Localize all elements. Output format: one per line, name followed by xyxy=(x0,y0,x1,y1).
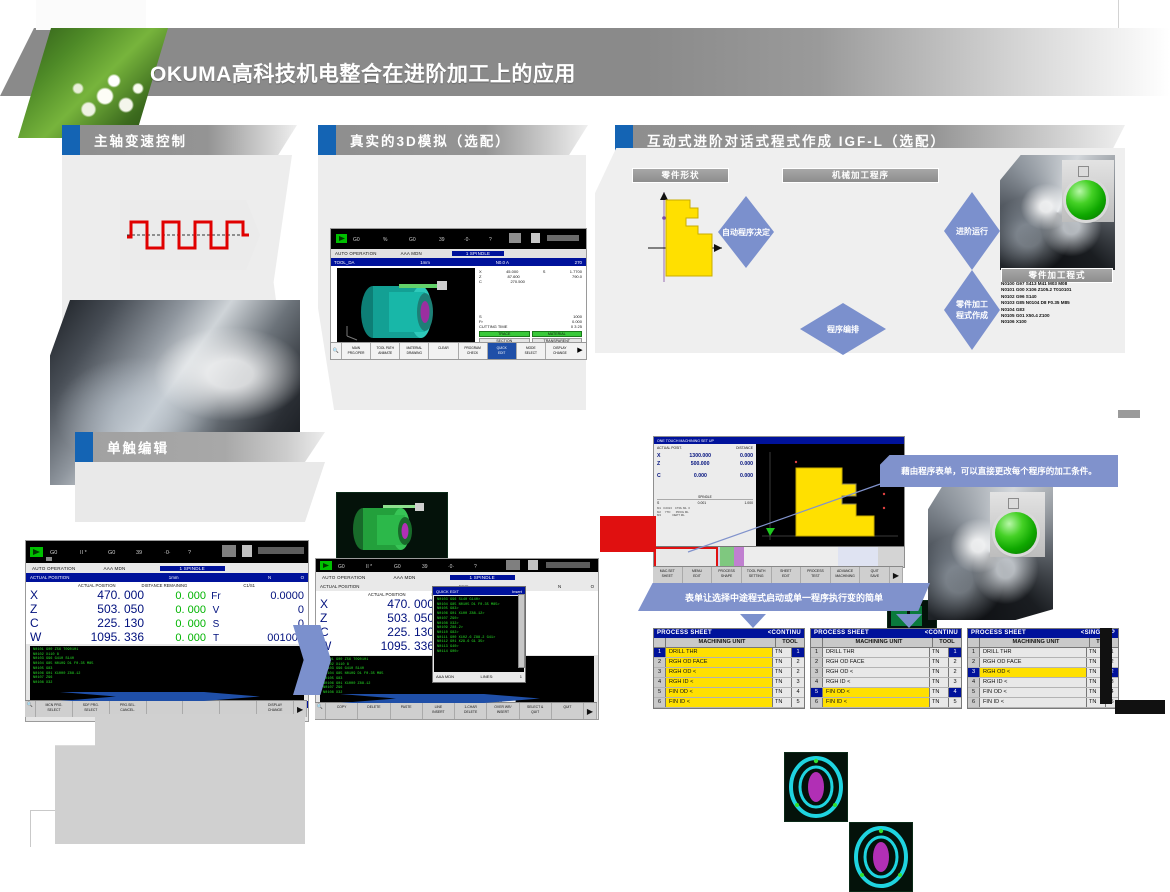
edge-strip-right-2 xyxy=(1115,700,1165,714)
quick-edit-text[interactable]: N0103 G96 S140 G140> N0104 G85 N0105 D1 … xyxy=(434,596,524,672)
section-label-spindle: 主轴变速控制 xyxy=(80,130,187,150)
onetouch-col-remain: DISTANCE xyxy=(736,446,753,450)
section-header-onetouch: 单触编辑 xyxy=(75,432,325,462)
led-indicator-igf xyxy=(1078,166,1089,177)
ps2-r3-unit: RGH OD < xyxy=(823,668,930,677)
cnc1-axis-w-lbl: T xyxy=(206,633,226,644)
gcode-line: N0106 X100 xyxy=(1001,319,1113,325)
process-sheet-1-title: PROCESS SHEET <CONTINU xyxy=(654,629,804,638)
sim3d-softkey[interactable]: MAINPRG.OPER xyxy=(341,343,370,359)
onetouch-col-actual: ACTUAL POSIT. xyxy=(657,446,682,450)
svg-text:%: % xyxy=(383,237,388,243)
ps1-r3-no: 3 xyxy=(654,668,666,677)
arrow-down-ps2 xyxy=(740,614,766,628)
ps1-col-no xyxy=(654,638,666,647)
ps1-col-unit: MACHINING UNIT xyxy=(666,638,776,647)
ps3-col-no xyxy=(968,638,980,647)
ps2-r2-tool: TN xyxy=(930,658,949,667)
cnc1-program-window[interactable]: N0101 G00 Z56 T090101 N0102 X110 8 N0103… xyxy=(30,646,304,700)
cnc1-softkey-mcn-prg[interactable]: MCN PRG.SELECT xyxy=(36,701,73,717)
frame-mark-top xyxy=(1118,0,1119,28)
ps3-r1-unit: DRILL THR xyxy=(980,648,1087,657)
svg-text:G0: G0 xyxy=(50,550,57,556)
svg-text:G0: G0 xyxy=(108,550,115,556)
ps1-r6-no: 6 xyxy=(654,698,666,707)
cnc2-softkey-paste[interactable]: PASTE xyxy=(391,703,423,719)
table-row[interactable]: 5 FIN OD < TN 4 xyxy=(811,688,961,698)
cnc-mode-auto: AUTO OPERATION xyxy=(335,251,377,256)
process-sheet-2-title-label: PROCESS SHEET xyxy=(814,629,869,638)
cnc1-axis-table: X 470. 000 0. 000 Fr 0.0000 Z 503. 050 0… xyxy=(26,588,308,644)
cnc2-softkey-magnifier[interactable]: 🔍 xyxy=(315,703,326,719)
part-shape-drawing xyxy=(640,188,730,286)
cnc1-col-remain: DISTANCE REMAINING xyxy=(142,583,188,588)
section-header-sim3d: 真实的3D模拟（选配） xyxy=(318,125,588,155)
cnc2-softkey-copy[interactable]: COPY xyxy=(326,703,358,719)
cnc2-axis-z-actual: 503. 050 xyxy=(338,611,434,625)
quick-edit-footer: AAA MDN LINES: 1 xyxy=(433,673,525,680)
svg-text:39: 39 xyxy=(439,237,445,243)
ps1-r1-no: 1 xyxy=(654,648,666,657)
section-header-spindle: 主轴变速控制 xyxy=(62,125,297,155)
ps2-r5-no: 5 xyxy=(811,688,823,697)
cnc1-col-cs: C1/S1 xyxy=(243,583,255,588)
machining-thumb-5 xyxy=(849,822,913,892)
onetouch-softkey-advance[interactable]: ADVANCEMACHINING xyxy=(831,567,861,583)
ps3-r2-no: 2 xyxy=(968,658,980,667)
ps1-r6-unit: FIN ID < xyxy=(666,698,773,707)
table-row[interactable]: 3 RGH OD < TN 2 xyxy=(811,668,961,678)
section-tab-accent xyxy=(62,125,80,155)
cnc2-axis-w-actual: 1095. 336 xyxy=(338,639,434,653)
ps1-r1-unit: DRILL THR xyxy=(666,648,773,657)
cnc1-spindle-tab[interactable]: 1 SPINDLE xyxy=(160,566,225,571)
ps1-r2-tn: 2 xyxy=(792,658,804,667)
cnc1-axis-row: X 470. 000 0. 000 Fr 0.0000 xyxy=(30,588,304,602)
frame-mark-mid-right xyxy=(1118,410,1140,418)
ps2-r1-tn: 1 xyxy=(949,648,961,657)
cnc1-title-bar: ACTUAL POSITION 1mm N O xyxy=(26,573,308,582)
ps2-col-unit: MACHINING UNIT xyxy=(823,638,933,647)
process-sheet-2-header: MACHINING UNIT TOOL xyxy=(811,638,961,648)
table-row[interactable]: 4 RGH ID < TN 3 xyxy=(968,678,1118,688)
process-sheet-2-mode: <CONTINU xyxy=(925,629,958,638)
ps1-r5-tn: 4 xyxy=(792,688,804,697)
panel-onetouch xyxy=(75,462,325,522)
cnc-header-unit: 1mm xyxy=(420,260,430,265)
led-indicator-bottom xyxy=(1008,498,1019,509)
section-label-sim3d: 真实的3D模拟（选配） xyxy=(336,130,511,150)
onetouch-softkey-quit-save[interactable]: QUITSAVE xyxy=(860,567,890,583)
process-sheet-2[interactable]: PROCESS SHEET <CONTINU MACHINING UNIT TO… xyxy=(810,628,962,709)
sim3d-btn-material[interactable]: MATERIAL xyxy=(532,331,583,337)
ps1-r5-tool: TN xyxy=(773,688,792,697)
quick-edit-title: QUICK EDIT xyxy=(436,589,459,594)
table-row[interactable]: 1 DRILL THR TN 1 xyxy=(811,648,961,658)
ps2-r1-tool: TN xyxy=(930,648,949,657)
onetouch-softkey-mac-set[interactable]: MAC.SETSHEET xyxy=(653,567,683,583)
ps1-r5-no: 5 xyxy=(654,688,666,697)
onetouch-axis-x-actual: 1300.000 xyxy=(689,453,711,459)
cnc-title-bar: TOOL_DA 1mm N0.0 A 270 xyxy=(331,258,586,266)
ps2-r6-tn: 5 xyxy=(949,698,961,707)
table-row[interactable]: 6 FIN ID < TN 5 xyxy=(968,698,1118,708)
process-sheet-3[interactable]: PROCESS SHEET <SINGLE P MACHINING UNIT T… xyxy=(967,628,1119,709)
cnc1-axis-x-actual: 470. 000 xyxy=(48,588,144,602)
cnc-header-n: N0.0 A xyxy=(496,260,509,265)
table-row[interactable]: 1 DRILL THR TN 1 xyxy=(654,648,804,658)
table-row[interactable]: 3 RGH OD < TN 2 xyxy=(654,668,804,678)
cnc2-softkey-char-delete[interactable]: 1-CHARDELETE xyxy=(455,703,487,719)
cnc-icon-strip: G0 % G0 39 ·0· ? xyxy=(331,229,586,249)
table-row[interactable]: 3 RGH OD < TN 2 xyxy=(968,668,1118,678)
cnc1-header-actual: ACTUAL POSITION xyxy=(30,575,69,580)
sim3d-render-green xyxy=(336,492,448,559)
gcode-listing: N0100 G97 S413 M41 M03 M08N0101 G00 X106… xyxy=(1001,281,1113,326)
cnc1-axis-row: W 1095. 336 0. 000 T 001000 xyxy=(30,630,304,644)
process-sheet-3-title-label: PROCESS SHEET xyxy=(971,629,1026,638)
cnc-mode-mdi: AAA MDN xyxy=(401,251,422,256)
cnc2-axis-z-name: Z xyxy=(320,611,338,625)
cnc1-axis-z-remain: 0. 000 xyxy=(144,604,206,616)
ps2-col-no xyxy=(811,638,823,647)
table-row[interactable]: 6 FIN ID < TN 5 xyxy=(811,698,961,708)
cnc2-mode-row: AUTO OPERATION AAA MDN 1 SPINDLE xyxy=(316,572,598,582)
onetouch-axis-z-actual: 500.000 xyxy=(691,461,710,467)
cnc1-axis-z-name: Z xyxy=(30,602,48,616)
table-row[interactable]: 2 RGH OD FACE TN 2 xyxy=(654,658,804,668)
svg-text:39: 39 xyxy=(422,564,428,570)
table-row[interactable]: 6 FIN ID < TN 5 xyxy=(654,698,804,708)
cnc2-header-actual: ACTUAL POSITION xyxy=(320,584,359,589)
ps3-r2-unit: RGH OD FACE xyxy=(980,658,1087,667)
ps3-col-unit: MACHINING UNIT xyxy=(980,638,1090,647)
cnc1-axis-x-remain: 0. 000 xyxy=(144,590,206,602)
ps2-r6-no: 6 xyxy=(811,698,823,707)
cnc2-header-n: N xyxy=(558,584,561,589)
cycle-start-button-bottom[interactable] xyxy=(995,512,1037,554)
ps1-r6-tool: TN xyxy=(773,698,792,707)
svg-text:II *: II * xyxy=(80,550,88,556)
ps2-r2-unit: RGH OD FACE xyxy=(823,658,930,667)
cnc1-axis-row: Z 503. 050 0. 000 V 0 xyxy=(30,602,304,616)
quick-edit-window[interactable]: QUICK EDIT Insert N0103 G96 S140 G140> N… xyxy=(432,586,526,683)
cnc1-axis-w-name: W xyxy=(30,630,48,644)
ps2-r5-tn: 4 xyxy=(949,688,961,697)
ps1-r6-tn: 5 xyxy=(792,698,804,707)
ps2-r2-no: 2 xyxy=(811,658,823,667)
onetouch-softkey-next-icon[interactable]: ▶ xyxy=(890,567,903,583)
cnc2-status-icons: G0 II * G0 39 ·0· ? xyxy=(316,559,598,572)
cnc1-body-panel xyxy=(55,714,305,844)
cnc1-header-unit: 1mm xyxy=(169,575,179,580)
cnc1-axis-w-val: 001000 xyxy=(226,632,304,644)
ps3-r4-unit: RGH ID < xyxy=(980,678,1087,687)
cnc2-softkey-bar[interactable]: 🔍 COPY DELETE PASTE LINEINSERT 1-CHARDEL… xyxy=(315,702,597,719)
cnc2-mode-auto: AUTO OPERATION xyxy=(322,575,365,580)
cnc2-icon-strip: G0 II * G0 39 ·0· ? xyxy=(316,559,598,572)
cnc1-axis-x-name: X xyxy=(30,588,48,602)
callout-bottom: 表单让选择中途程式启动或单一程序执行变的简单 xyxy=(638,583,930,611)
table-row[interactable]: 5 FIN OD < TN 4 xyxy=(968,688,1118,698)
onetouch-spindle-axis: S xyxy=(657,501,659,505)
cnc1-axis-z-actual: 503. 050 xyxy=(48,602,144,616)
onetouch-axis-x-remain: 0.000 xyxy=(740,453,753,459)
section-label-onetouch: 单触编辑 xyxy=(93,437,169,457)
onetouch-titlebar: ONE TOUCH MACHINING SET UP xyxy=(654,437,904,444)
sim3d-btn-trace[interactable]: TRACE xyxy=(479,331,530,337)
cnc2-spindle-tab[interactable]: 1 SPINDLE xyxy=(450,575,515,580)
ps1-col-tool: TOOL xyxy=(776,638,804,647)
sim3d-cnc-screen[interactable]: G0 % G0 39 ·0· ? AUTO OPERATION AAA MDN … xyxy=(330,228,587,355)
ps3-r5-no: 5 xyxy=(968,688,980,697)
ps1-r2-no: 2 xyxy=(654,658,666,667)
process-sheet-1-mode: <CONTINU xyxy=(768,629,801,638)
cnc-mode-row: AUTO OPERATION AAA MDN 1 SPINDLE xyxy=(331,249,586,258)
cnc1-axis-c-remain: 0. 000 xyxy=(144,618,206,630)
process-sheet-1-header: MACHINING UNIT TOOL xyxy=(654,638,804,648)
callout-right: 藉由程序表单，可以直接更改每个程序的加工条件。 xyxy=(880,455,1118,487)
ps2-r6-tool: TN xyxy=(930,698,949,707)
sim3d-softkey[interactable]: PROGRAMCHECK xyxy=(458,343,487,359)
cnc1-status-icons: G0 II * G0 39 ·0· ? xyxy=(26,541,308,563)
cnc1-axis-row: C 225. 130 0. 000 S 0 xyxy=(30,616,304,630)
onetouch-axis-x-name: X xyxy=(657,453,660,459)
cnc2-header-o: O xyxy=(591,584,594,589)
section-tab-accent xyxy=(75,432,93,462)
ps1-r1-tn: 1 xyxy=(792,648,804,657)
sim3d-cutting-time-label: CUTTING TIME xyxy=(479,324,507,329)
quick-edit-footer-mode: AAA MDN xyxy=(436,674,454,679)
svg-text:·0·: ·0· xyxy=(464,237,470,243)
cnc1-axis-c-name: C xyxy=(30,616,48,630)
ps3-r3-unit: RGH OD < xyxy=(980,668,1087,677)
ps1-r4-no: 4 xyxy=(654,678,666,687)
cnc-header-o: 270 xyxy=(575,260,582,265)
svg-text:G0: G0 xyxy=(394,564,401,570)
ps1-r4-tn: 3 xyxy=(792,678,804,687)
callout-pointer-line xyxy=(660,480,890,560)
ps2-r2-tn: 2 xyxy=(949,658,961,667)
cnc2-mode-mdi: AAA MDN xyxy=(393,575,415,580)
sim3d-softkey-bar[interactable]: 🔍 MAINPRG.OPER TOOL PATHANIMATE MATERIAL… xyxy=(330,342,587,360)
edge-strip-right-1 xyxy=(1100,628,1112,704)
sim3d-viewport[interactable] xyxy=(337,268,475,352)
ps3-r4-no: 4 xyxy=(968,678,980,687)
quick-edit-footer-lines: LINES: xyxy=(481,674,494,679)
cnc1-axis-w-actual: 1095. 336 xyxy=(48,630,144,644)
sim3d-softkey[interactable]: TOOL PATHANIMATE xyxy=(370,343,399,359)
cnc1-icon-strip: G0 II * G0 39 ·0· ? xyxy=(26,541,308,563)
ps2-r6-unit: FIN ID < xyxy=(823,698,930,707)
ps3-r3-no: 3 xyxy=(968,668,980,677)
cnc-spindle-tab[interactable]: 1 SPINDLE xyxy=(452,251,504,256)
ps3-r6-no: 6 xyxy=(968,698,980,707)
ps2-col-tool: TOOL xyxy=(933,638,961,647)
onetouch-axis-c-name: C xyxy=(657,473,661,479)
caption-machining-program: 机械加工程序 xyxy=(782,168,939,183)
quick-edit-footer-count: 1 xyxy=(520,674,522,679)
cnc2-softkey-delete[interactable]: DELETE xyxy=(358,703,390,719)
cnc2-softkey-overwrite[interactable]: OVER WR/INSERT xyxy=(487,703,519,719)
onetouch-axis-z-name: Z xyxy=(657,461,660,467)
ps2-r3-tool: TN xyxy=(930,668,949,677)
ps1-r3-unit: RGH OD < xyxy=(666,668,773,677)
ps2-r1-unit: DRILL THR xyxy=(823,648,930,657)
cnc1-axis-x-val: 0.0000 xyxy=(226,590,304,602)
ps1-r2-unit: RGH OD FACE xyxy=(666,658,773,667)
cnc1-header-o: O xyxy=(301,575,304,580)
sim3d-readout: X45.000S1.7700 Z87.600790.0 C270.500 S10… xyxy=(475,266,586,354)
frame-mark-bottom-left-v xyxy=(30,810,31,847)
onetouch-axis-c-actual: 0.000 xyxy=(694,473,707,479)
cnc1-axis-z-lbl: V xyxy=(206,605,226,616)
onetouch-softkey-bar[interactable]: MAC.SETSHEET MENUEDIT PROCESSSHAPE TOOL … xyxy=(653,566,903,583)
onetouch-axis-c-remain: 0.000 xyxy=(740,473,753,479)
machining-thumb-4 xyxy=(784,752,848,822)
cnc1-axis-c-actual: 225. 130 xyxy=(48,616,144,630)
ps1-r5-unit: FIN OD < xyxy=(666,688,773,697)
svg-text:G0: G0 xyxy=(353,237,360,243)
ps3-r1-no: 1 xyxy=(968,648,980,657)
cnc1-axis-c-val: 0 xyxy=(226,618,304,630)
cycle-start-button-igf[interactable] xyxy=(1066,180,1106,220)
onetouch-softkey-menu-edit[interactable]: MENUEDIT xyxy=(683,567,713,583)
cnc-status-icons: G0 % G0 39 ·0· ? xyxy=(331,229,586,249)
cnc1-mode-auto: AUTO OPERATION xyxy=(32,566,75,571)
quick-edit-scrollbar[interactable] xyxy=(518,594,525,668)
ps1-r4-tool: TN xyxy=(773,678,792,687)
cnc2-softkey-quit[interactable]: QUIT xyxy=(552,703,584,719)
sim3d-softkey[interactable]: CLEAR xyxy=(428,343,457,359)
table-row[interactable]: 1 DRILL THR TN 1 xyxy=(968,648,1118,658)
page-title: OKUMA高科技机电整合在进阶加工上的应用 xyxy=(150,58,576,88)
sim3d-cutting-time-value: 0 3 25 xyxy=(571,324,582,329)
ps2-r5-tool: TN xyxy=(930,688,949,697)
cnc2-softkey-next-icon[interactable]: ▶ xyxy=(584,703,597,719)
diamond-create-line1: 零件加工 xyxy=(956,299,988,310)
svg-text:G0: G0 xyxy=(338,564,345,570)
cnc1-axis-x-lbl: Fr xyxy=(206,591,226,602)
ps2-r3-no: 3 xyxy=(811,668,823,677)
svg-text:G0: G0 xyxy=(409,237,416,243)
cnc2-axis-c-actual: 225. 130 xyxy=(338,625,434,639)
ps2-r5-unit: FIN OD < xyxy=(823,688,930,697)
onetouch-softkey-process-test[interactable]: PROCESSTEST xyxy=(801,567,831,583)
svg-text:39: 39 xyxy=(136,550,142,556)
cnc1-mode-row: AUTO OPERATION AAA MDN 1 SPINDLE xyxy=(26,563,308,573)
onetouch-softkey-process-shape[interactable]: PROCESSSHAPE xyxy=(712,567,742,583)
onetouch-red-marker xyxy=(600,516,656,552)
table-row[interactable]: 5 FIN OD < TN 4 xyxy=(654,688,804,698)
section-tab-accent xyxy=(318,125,336,155)
svg-text:·0·: ·0· xyxy=(164,550,171,556)
process-sheet-1-title-label: PROCESS SHEET xyxy=(657,629,712,638)
cnc2-softkey-line-insert[interactable]: LINEINSERT xyxy=(423,703,455,719)
ps1-r2-tool: TN xyxy=(773,658,792,667)
ps3-r5-unit: FIN OD < xyxy=(980,688,1087,697)
quick-edit-titlebar: QUICK EDIT Insert xyxy=(433,587,525,595)
ps2-r4-no: 4 xyxy=(811,678,823,687)
cnc1-softkey-magnifier[interactable]: 🔍 xyxy=(25,701,36,717)
ps2-r1-no: 1 xyxy=(811,648,823,657)
svg-text:?: ? xyxy=(489,237,492,243)
ps2-r4-tn: 3 xyxy=(949,678,961,687)
cnc1-axis-z-val: 0 xyxy=(226,604,304,616)
cnc-header-actual: TOOL_DA xyxy=(334,260,354,265)
ps1-r1-tool: TN xyxy=(773,648,792,657)
ps1-r4-unit: RGH ID < xyxy=(666,678,773,687)
process-sheet-2-title: PROCESS SHEET <CONTINU xyxy=(811,629,961,638)
sim3d-softkey[interactable]: DISPLAYCHANGE xyxy=(545,343,574,359)
onetouch-axis-z-remain: 0.000 xyxy=(740,461,753,467)
table-row[interactable]: 2 RGH OD FACE TN 2 xyxy=(968,658,1118,668)
table-row[interactable]: 2 RGH OD FACE TN 2 xyxy=(811,658,961,668)
spindle-waveform-icon xyxy=(125,212,251,258)
quick-edit-line: N0114 G00> xyxy=(437,650,521,655)
cnc2-softkey-select-quit[interactable]: SELECT &QUIT xyxy=(520,703,552,719)
process-sheet-3-title: PROCESS SHEET <SINGLE P xyxy=(968,629,1118,638)
onetouch-softkey-toolpath[interactable]: TOOL PATHSETTING xyxy=(742,567,772,583)
sim3d-softkey[interactable]: MATERIALDRAWING xyxy=(399,343,428,359)
ps2-r4-unit: RGH ID < xyxy=(823,678,930,687)
quick-edit-mode: Insert xyxy=(512,589,522,594)
ps3-r6-unit: FIN ID < xyxy=(980,698,1087,707)
sim3d-softkey-magnifier[interactable]: 🔍 xyxy=(331,343,341,359)
cnc1-mode-mdi: AAA MDN xyxy=(103,566,125,571)
diamond-create-line2: 程式作成 xyxy=(956,310,988,321)
ps1-r3-tn: 2 xyxy=(792,668,804,677)
cnc1-axis-w-remain: 0. 000 xyxy=(144,632,206,644)
table-row[interactable]: 4 RGH ID < TN 3 xyxy=(811,678,961,688)
onetouch-title: ONE TOUCH MACHINING SET UP xyxy=(657,439,714,443)
ps2-r3-tn: 2 xyxy=(949,668,961,677)
svg-text:·0·: ·0· xyxy=(448,564,454,570)
svg-text:?: ? xyxy=(188,550,191,556)
cnc1-header-n: N xyxy=(268,575,271,580)
caption-part-shape: 零件形状 xyxy=(632,168,729,183)
ps1-r3-tool: TN xyxy=(773,668,792,677)
flower-photo-top xyxy=(36,0,146,30)
process-sheet-3-header: MACHINING UNIT TOOL xyxy=(968,638,1118,648)
ps2-r4-tool: TN xyxy=(930,678,949,687)
onetouch-softkey-sheet-edit[interactable]: SHEETEDIT xyxy=(772,567,802,583)
cnc2-axis-x-actual: 470. 000 xyxy=(338,597,434,611)
cnc2-axis-x-name: X xyxy=(320,597,338,611)
cnc1-program-line: N0108 X32 xyxy=(33,681,301,686)
cnc1-axis-c-lbl: S xyxy=(206,619,226,630)
table-row[interactable]: 4 RGH ID < TN 3 xyxy=(654,678,804,688)
sim3d-softkey-active[interactable]: QUICKEDIT xyxy=(487,343,516,359)
sim3d-softkey[interactable]: MODESELECT xyxy=(516,343,545,359)
svg-text:II *: II * xyxy=(366,564,372,570)
section-label-igf: 互动式进阶对话式程式作成 IGF-L（选配） xyxy=(633,130,946,150)
sim3d-part-render xyxy=(337,268,475,352)
sim3d-softkey-next-icon[interactable]: ▶ xyxy=(574,343,586,359)
process-sheet-1[interactable]: PROCESS SHEET <CONTINU MACHINING UNIT TO… xyxy=(653,628,805,709)
svg-text:?: ? xyxy=(474,564,477,570)
